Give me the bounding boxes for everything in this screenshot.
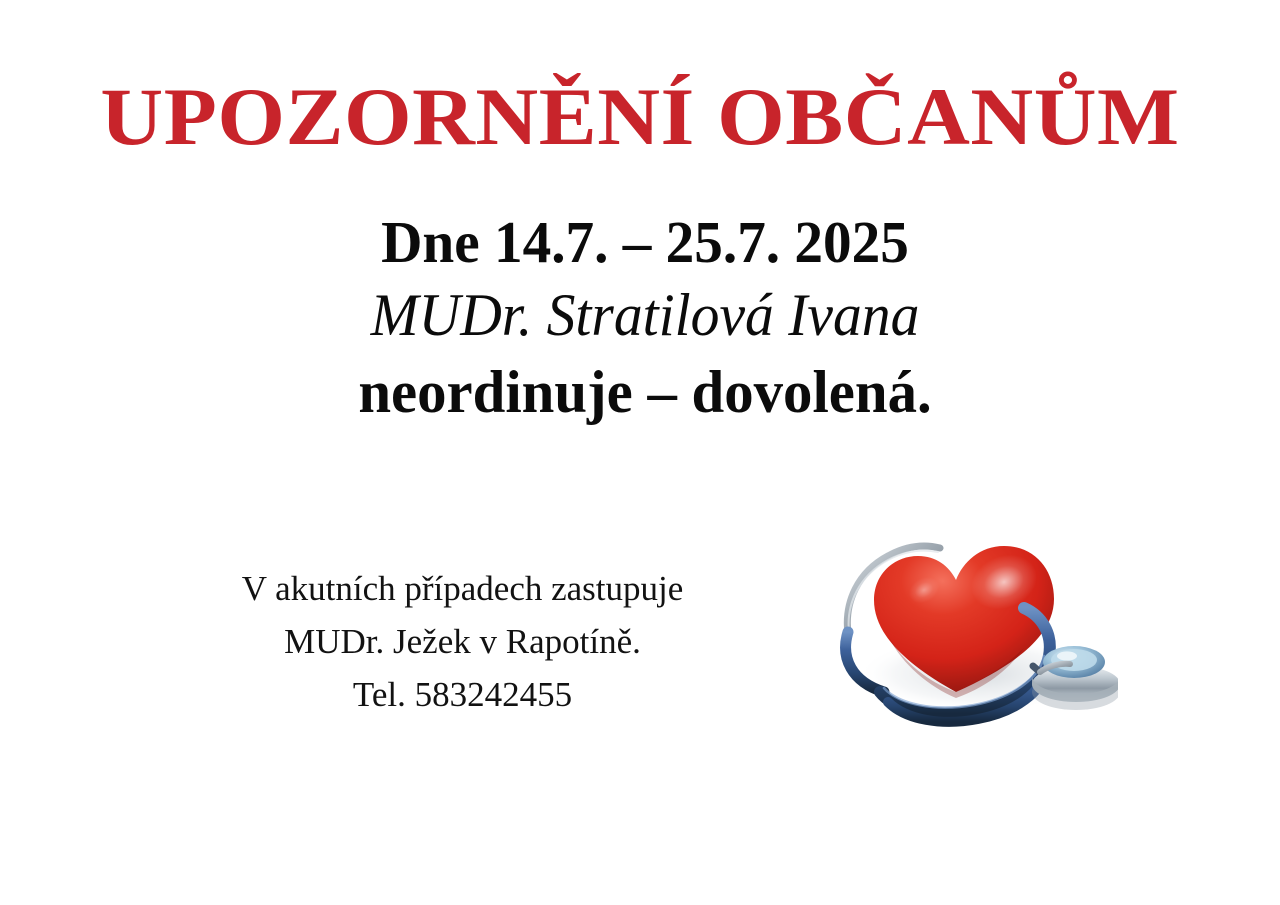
substitute-contact-block: V akutních případech zastupuje MUDr. Jež… <box>150 562 775 722</box>
chestpiece-diaphragm <box>1051 649 1097 671</box>
substitute-intro-text: V akutních případech zastupuje <box>150 562 775 615</box>
substitute-doctor-name: MUDr. Ježek v Rapotíně. <box>150 615 775 668</box>
substitute-phone-number: Tel. 583242455 <box>150 668 775 721</box>
announcement-status-line: neordinuje – dovolená. <box>62 362 1228 424</box>
heart-with-stethoscope-image <box>828 506 1118 738</box>
page-title: UPOZORNĚNÍ OBČANŮM <box>0 76 1280 158</box>
announcement-block: Dne 14.7. – 25.7. 2025 MUDr. Stratilová … <box>50 212 1240 423</box>
announcement-doctor-name: MUDr. Stratilová Ivana <box>74 285 1216 347</box>
announcement-date-line: Dne 14.7. – 25.7. 2025 <box>68 212 1222 273</box>
chestpiece-diaphragm-glint <box>1057 651 1077 660</box>
notice-page: UPOZORNĚNÍ OBČANŮM Dne 14.7. – 25.7. 202… <box>0 0 1280 905</box>
